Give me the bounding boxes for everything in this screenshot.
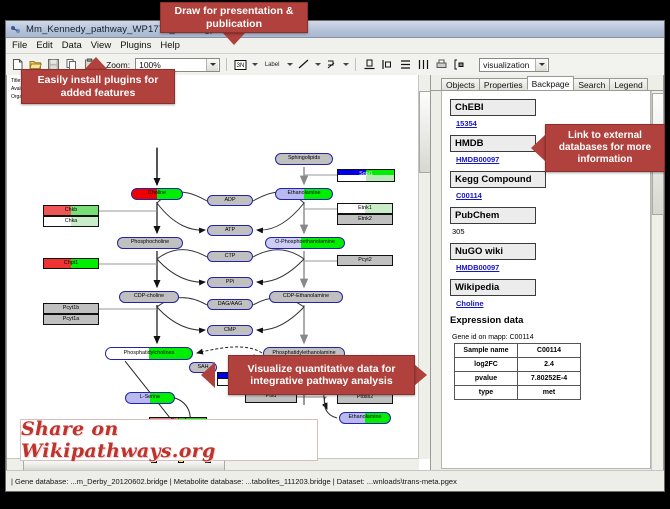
table-row: log2FC 2.4 — [455, 358, 581, 372]
node-etnk1[interactable]: Etnk1 — [337, 203, 393, 214]
db-value-pubchem: 305 — [452, 227, 650, 236]
visualization-value: visualization — [483, 60, 529, 70]
pathvisio-icon — [10, 24, 21, 35]
db-link-kegg[interactable]: C00114 — [456, 191, 650, 200]
interaction-icon[interactable] — [324, 57, 339, 72]
node-chkb[interactable]: Chkb — [43, 205, 99, 216]
datanode-icon[interactable]: 3N — [233, 57, 248, 72]
toolbar-separator — [226, 58, 227, 71]
node-phosphatidylcholines[interactable]: Phosphatidylcholines — [105, 347, 193, 360]
label-tool-text: Label — [265, 62, 280, 68]
expression-key: Sample name — [455, 344, 518, 358]
tab-search[interactable]: Search — [573, 78, 610, 90]
tab-legend[interactable]: Legend — [609, 78, 647, 90]
canvas-vertical-scrollbar[interactable] — [418, 75, 430, 459]
zoom-value: 100% — [139, 60, 161, 70]
toolbar-separator-2 — [355, 58, 356, 71]
db-link-nugowiki[interactable]: HMDB00097 — [456, 263, 650, 272]
db-title-nugowiki: NuGO wiki — [450, 243, 536, 260]
callout-visualize-arrow-right-icon — [414, 364, 427, 386]
node-pcyt2[interactable]: Pcyt2 — [337, 255, 393, 266]
datanode-dropdown-icon[interactable] — [252, 63, 258, 66]
db-title-hmdb: HMDB — [450, 135, 536, 152]
expression-table: Sample name C00114 log2FC 2.4 pvalue 7.8… — [454, 343, 581, 400]
menu-item-file[interactable]: File — [12, 40, 27, 51]
node-sphingolipids[interactable]: Sphingolipids — [275, 153, 333, 165]
node-chka[interactable]: Chka — [43, 216, 99, 227]
db-title-wikipedia: Wikipedia — [450, 279, 536, 296]
node-chpt1[interactable]: Chpt1 — [43, 258, 99, 269]
menu-item-edit[interactable]: Edit — [36, 40, 52, 51]
node-pcyt1b[interactable]: Pcyt1b — [43, 303, 99, 314]
status-text: | Gene database: ...m_Derby_20120602.bri… — [6, 477, 457, 486]
expression-key: type — [455, 386, 518, 400]
expression-value: C00114 — [518, 344, 581, 358]
callout-visualize-arrow-left-icon — [201, 362, 215, 388]
menu-bar: File Edit Data View Plugins Help — [6, 38, 664, 54]
align-bottom-icon[interactable] — [362, 57, 377, 72]
node-ethanolamine-top[interactable]: Ethanolamine — [275, 188, 333, 200]
callout-visualize: Visualize quantitative data for integrat… — [228, 355, 415, 395]
status-bar: | Gene database: ...m_Derby_20120602.bri… — [6, 470, 664, 491]
screenshot-root: Mm_Kennedy_pathway_WP1771_45176.gpml Fil… — [0, 0, 670, 509]
table-row: type met — [455, 386, 581, 400]
expression-value: met — [518, 386, 581, 400]
node-atp[interactable]: ATP — [207, 225, 253, 236]
bracket-icon[interactable] — [452, 57, 467, 72]
node-o-phosphoethanolamine[interactable]: O-Phosphoethanolamine — [265, 237, 345, 249]
tab-backpage[interactable]: Backpage — [527, 76, 575, 90]
interaction-dropdown-icon[interactable] — [343, 63, 349, 66]
distribute-icon[interactable] — [416, 57, 431, 72]
canvas-vscroll-thumb[interactable] — [419, 91, 431, 173]
svg-text:3N: 3N — [237, 63, 245, 69]
callout-draw-arrow-icon — [222, 32, 246, 45]
tab-objects[interactable]: Objects — [441, 78, 480, 90]
node-ppi[interactable]: PPi — [207, 277, 253, 288]
node-adp[interactable]: ADP — [207, 195, 253, 206]
expression-value: 2.4 — [518, 358, 581, 372]
side-panel-tabs: Objects Properties Backpage Search Legen… — [431, 75, 663, 91]
visualization-chevron-icon[interactable] — [535, 59, 547, 71]
db-title-kegg: Kegg Compound — [450, 171, 546, 188]
menu-item-plugins[interactable]: Plugins — [120, 40, 151, 51]
pathway-canvas[interactable]: Title: Availab Organis — [7, 75, 430, 470]
node-l-serine-left[interactable]: L-Serine — [125, 392, 175, 404]
table-row: Sample name C00114 — [455, 344, 581, 358]
menu-item-view[interactable]: View — [91, 40, 111, 51]
line-dropdown-icon[interactable] — [315, 63, 321, 66]
node-dag-aag[interactable]: DAG/AAG — [207, 299, 253, 310]
pathway-canvas-panel[interactable]: Title: Availab Organis — [6, 75, 431, 471]
stack-vertical-icon[interactable] — [398, 57, 413, 72]
callout-links-arrow-icon — [531, 135, 545, 161]
callout-draw: Draw for presentation & publication — [160, 2, 308, 33]
expression-key: pvalue — [455, 372, 518, 386]
db-title-pubchem: PubChem — [450, 207, 536, 224]
node-cmp[interactable]: CMP — [207, 325, 253, 336]
table-row: pvalue 7.80252E-4 — [455, 372, 581, 386]
node-phosphocholine[interactable]: Phosphocholine — [117, 237, 183, 249]
title-bar: Mm_Kennedy_pathway_WP1771_45176.gpml — [6, 21, 664, 38]
line-icon[interactable] — [296, 57, 311, 72]
label-dropdown-icon[interactable] — [287, 63, 293, 66]
menu-item-data[interactable]: Data — [62, 40, 82, 51]
node-choline-top[interactable]: Choline — [131, 188, 183, 200]
align-left-icon[interactable] — [380, 57, 395, 72]
db-title-chebi: ChEBI — [450, 99, 536, 116]
chevron-down-icon[interactable] — [206, 59, 218, 71]
node-ctp[interactable]: CTP — [207, 251, 253, 262]
expression-key: log2FC — [455, 358, 518, 372]
visualization-combo[interactable]: visualization — [479, 58, 549, 72]
print-icon[interactable] — [434, 57, 449, 72]
menu-item-help[interactable]: Help — [160, 40, 180, 51]
callout-share: Share on Wikipathways.org — [20, 419, 318, 461]
node-etnk2[interactable]: Etnk2 — [337, 214, 393, 225]
expression-value: 7.80252E-4 — [518, 372, 581, 386]
expression-data-header: Expression data — [450, 315, 650, 326]
node-ethanolamine-bottom[interactable]: Ethanolamine — [339, 412, 391, 424]
callout-plugins: Easily install plugins for added feature… — [21, 69, 175, 104]
zoom-label: Zoom: — [106, 60, 130, 70]
tab-properties[interactable]: Properties — [479, 78, 528, 90]
node-cdp-choline[interactable]: CDP-choline — [119, 291, 179, 303]
db-link-wikipedia[interactable]: Choline — [456, 299, 650, 308]
node-cdp-ethanolamine[interactable]: CDP-Ethanolamine — [269, 291, 343, 303]
node-pcyt1a[interactable]: Pcyt1a — [43, 314, 99, 325]
label-tool[interactable]: Label — [261, 57, 283, 72]
callout-links: Link to external databases for more info… — [545, 124, 665, 172]
gene-id-label: Gene id on mapp: C00114 — [452, 334, 650, 341]
